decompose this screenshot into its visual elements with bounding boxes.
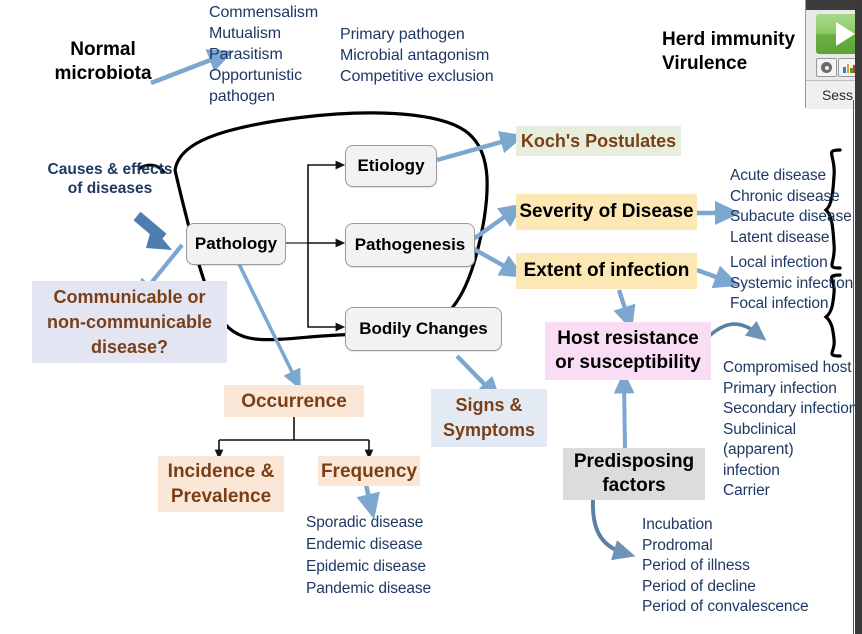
severity-terms-list: Acute disease Chronic disease Subacute d… xyxy=(730,166,862,248)
arrow-extent-to-host xyxy=(619,290,628,318)
arrow-bodily-to-signs xyxy=(457,356,492,392)
box-bodily-changes[interactable]: Bodily Changes xyxy=(345,307,502,351)
extent-terms-list: Local infection Systemic infection Focal… xyxy=(730,253,862,315)
box-incidence-prevalence[interactable]: Incidence & Prevalence xyxy=(158,456,284,512)
bar-chart-icon xyxy=(843,63,855,73)
gear-icon-center xyxy=(825,66,829,70)
box-pathogenesis[interactable]: Pathogenesis xyxy=(345,223,475,267)
media-player-widget[interactable]: Sess xyxy=(805,0,862,108)
panel-divider xyxy=(853,100,854,634)
connector-pathology-etiology xyxy=(308,165,342,243)
arrow-etiology-to-kochs xyxy=(437,139,512,160)
host-terms-list: Compromised host Primary infection Secon… xyxy=(723,358,862,502)
box-pathology[interactable]: Pathology xyxy=(186,223,286,265)
session-label: Sess xyxy=(816,87,853,103)
pathogen-concept-list: Primary pathogen Microbial antagonism Co… xyxy=(340,24,555,87)
box-frequency[interactable]: Frequency xyxy=(318,456,420,486)
arrow-causes-effects xyxy=(137,216,163,238)
arrow-pathology-to-occurrence xyxy=(238,262,296,380)
box-occurrence[interactable]: Occurrence xyxy=(224,385,364,417)
widget-titlebar xyxy=(806,0,862,10)
arrow-extent-to-terms xyxy=(697,270,727,281)
slide-canvas: Normal microbiota Commensalism Mutualism… xyxy=(0,0,862,634)
box-etiology[interactable]: Etiology xyxy=(345,145,437,187)
occurrence-terms-list: Sporadic disease Endemic disease Epidemi… xyxy=(306,512,476,600)
box-host-resistance[interactable]: Host resistance or susceptibility xyxy=(545,322,711,380)
disease-stage-terms-list: Incubation Prodromal Period of illness P… xyxy=(642,515,857,618)
arrow-pathogenesis-to-severity xyxy=(472,211,513,240)
window-right-edge xyxy=(855,0,862,634)
box-communicable-disease[interactable]: Communicable or non-communicable disease… xyxy=(32,281,227,363)
causes-effects-label: Causes & effects of diseases xyxy=(35,160,185,198)
settings-button[interactable] xyxy=(816,58,837,77)
play-icon xyxy=(836,22,855,46)
box-severity-of-disease[interactable]: Severity of Disease xyxy=(516,194,697,230)
arrow-predisposing-to-stages xyxy=(593,500,624,553)
box-extent-of-infection[interactable]: Extent of infection xyxy=(516,253,697,289)
microbiota-relationship-list: Commensalism Mutualism Parasitism Opport… xyxy=(209,2,359,107)
arrow-frequency-to-terms xyxy=(366,485,371,506)
box-predisposing-factors[interactable]: Predisposing factors xyxy=(563,448,705,500)
box-kochs-postulates[interactable]: Koch's Postulates xyxy=(516,126,681,156)
arrow-pathogenesis-to-extent xyxy=(472,248,513,271)
box-signs-symptoms[interactable]: Signs & Symptoms xyxy=(431,389,547,447)
normal-microbiota-header: Normal microbiota xyxy=(33,38,173,86)
connector-pathology-bodily xyxy=(308,243,342,327)
arrow-predisposing-to-host xyxy=(624,383,625,448)
